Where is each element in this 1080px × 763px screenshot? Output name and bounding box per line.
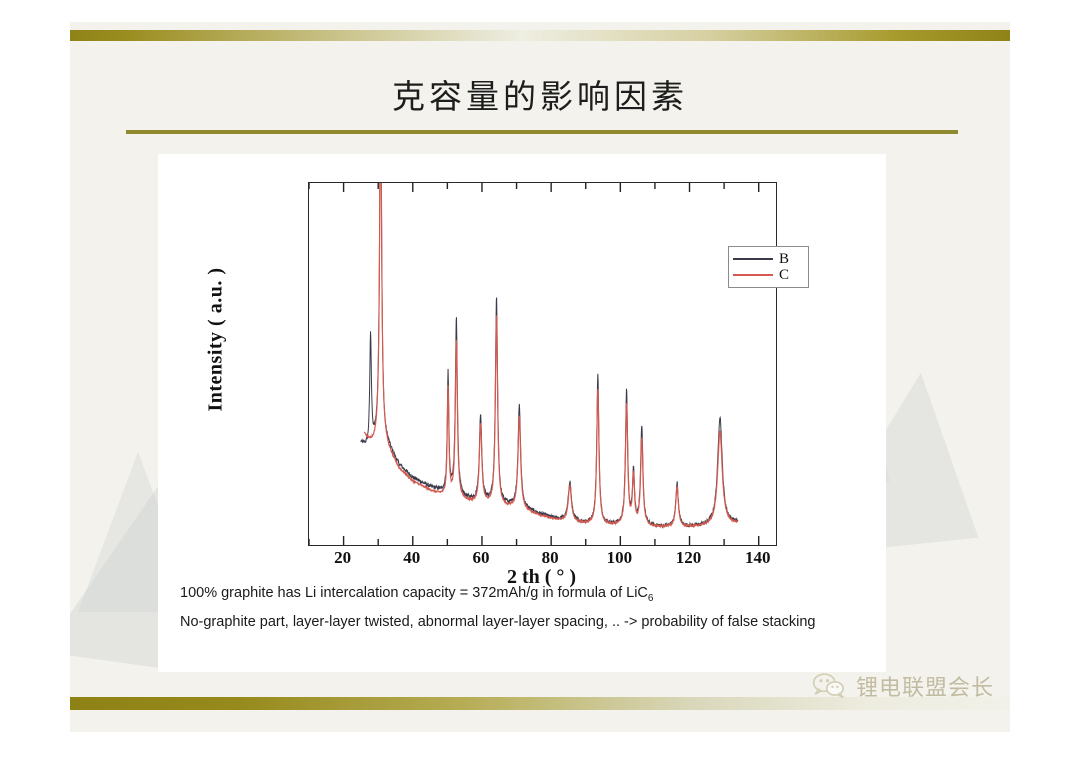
y-axis-label: Intensity ( a.u. ) (205, 200, 228, 480)
wechat-icon (812, 672, 848, 700)
legend-item-b: B (733, 251, 805, 267)
page-title: 克容量的影响因素 (70, 70, 1010, 118)
xrd-figure: Intensity ( a.u. ) B (180, 160, 866, 575)
slide-canvas: 克容量的影响因素 Intensity ( a.u. ) (70, 22, 1010, 732)
series-C-path (364, 183, 737, 526)
chart-legend: B C (728, 246, 809, 288)
xrd-plot-svg (309, 183, 776, 545)
caption-line-2: No-graphite part, layer-layer twisted, a… (180, 611, 870, 633)
legend-label-b: B (779, 252, 789, 267)
top-gold-bar (70, 30, 1010, 41)
watermark-text: 锂电联盟会长 (856, 670, 994, 702)
legend-swatch-c (733, 274, 773, 276)
legend-item-c: C (733, 267, 805, 283)
caption-line-1-subscript: 6 (648, 593, 654, 604)
figure-caption: 100% graphite has Li intercalation capac… (180, 582, 870, 639)
content-card: Intensity ( a.u. ) B (158, 154, 886, 672)
caption-line-1-text: 100% graphite has Li intercalation capac… (180, 585, 648, 601)
x-axis-tick-120: 120 (676, 548, 702, 568)
x-axis-tick-60: 60 (472, 548, 489, 568)
title-divider (126, 130, 958, 134)
plot-area (308, 182, 777, 546)
caption-line-1: 100% graphite has Li intercalation capac… (180, 582, 870, 606)
x-axis-tick-100: 100 (607, 548, 633, 568)
x-axis-tick-140: 140 (745, 548, 771, 568)
x-axis-tick-20: 20 (334, 548, 351, 568)
legend-label-c: C (779, 268, 789, 283)
x-axis-tick-marks (309, 183, 759, 545)
legend-swatch-b (733, 258, 773, 260)
x-axis-tick-80: 80 (542, 548, 559, 568)
series-B-path (361, 183, 738, 527)
x-axis-tick-40: 40 (403, 548, 420, 568)
watermark: 锂电联盟会长 (812, 670, 994, 702)
